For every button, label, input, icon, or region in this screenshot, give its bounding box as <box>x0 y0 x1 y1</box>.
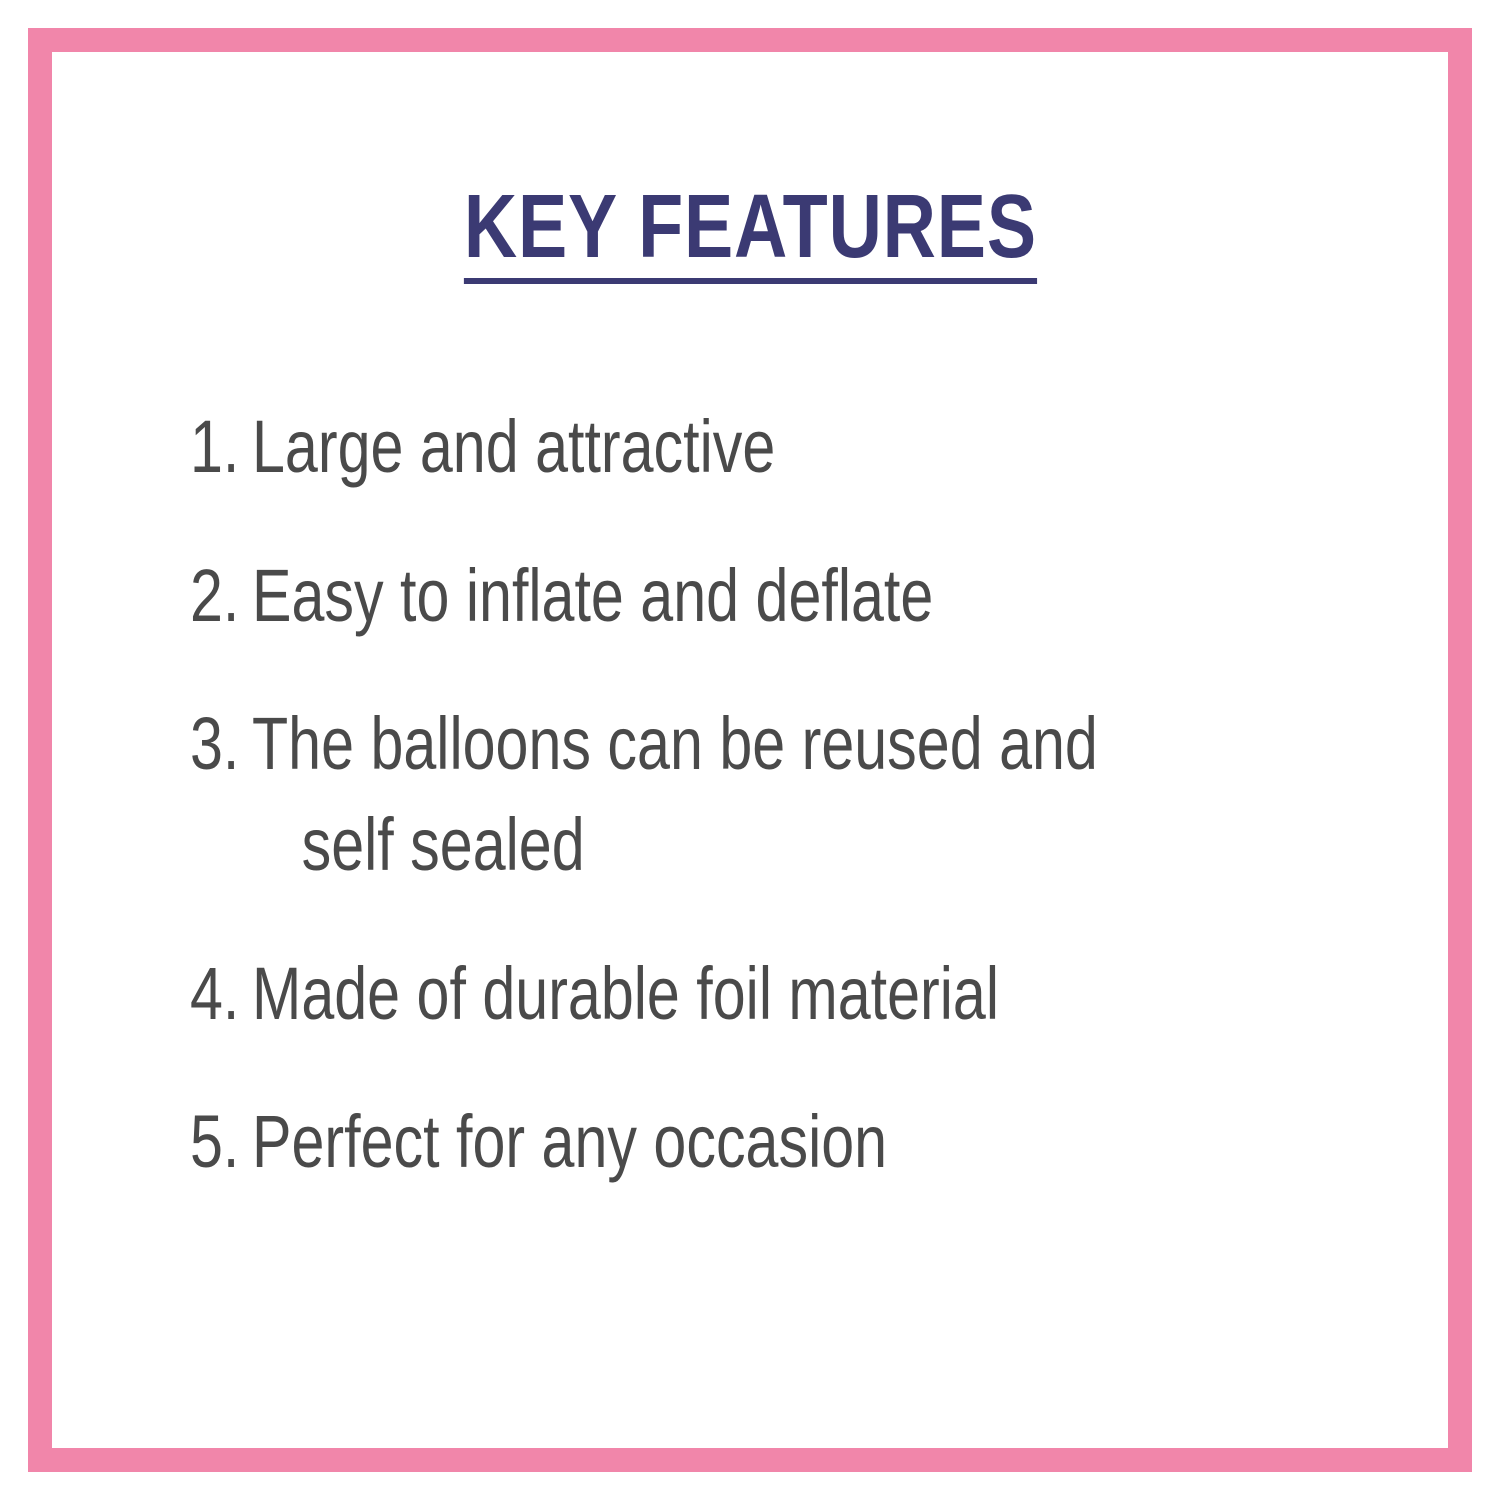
list-item: 1. Large and attractive <box>190 397 1430 498</box>
list-item: 5. Perfect for any occasion <box>190 1092 1430 1193</box>
list-item-line: Easy to inflate and deflate <box>252 554 933 637</box>
list-item: 2. Easy to inflate and deflate <box>190 546 1430 647</box>
list-item: 4. Made of durable foil material <box>190 944 1430 1045</box>
key-features-list: 1. Large and attractive 2. Easy to infla… <box>190 397 1430 1193</box>
list-item-line: The balloons can be reused and <box>252 702 1098 785</box>
list-item-number: 5. <box>190 1092 246 1193</box>
list-item-text: Large and attractive <box>252 397 1194 498</box>
list-item-text: Easy to inflate and deflate <box>252 546 1194 647</box>
page-title-container: KEY FEATURES <box>52 182 1448 284</box>
list-item-line: Large and attractive <box>252 405 775 488</box>
list-item-number: 1. <box>190 397 246 498</box>
list-item-text: Perfect for any occasion <box>252 1092 1194 1193</box>
list-item-text: Made of durable foil material <box>252 944 1194 1045</box>
list-item-number: 4. <box>190 944 246 1045</box>
page-title: KEY FEATURES <box>463 182 1036 284</box>
list-item: 3. The balloons can be reused andself se… <box>190 694 1430 895</box>
list-item-line: Made of durable foil material <box>252 952 999 1035</box>
list-item-number: 2. <box>190 546 246 647</box>
list-item-text: The balloons can be reused andself seale… <box>252 694 1194 895</box>
card-content: KEY FEATURES 1. Large and attractive 2. … <box>52 52 1448 1448</box>
product-feature-card: KEY FEATURES 1. Large and attractive 2. … <box>0 0 1500 1500</box>
list-item-line: Perfect for any occasion <box>252 1100 887 1183</box>
list-item-line-continuation: self sealed <box>252 795 1194 896</box>
list-item-number: 3. <box>190 694 246 795</box>
